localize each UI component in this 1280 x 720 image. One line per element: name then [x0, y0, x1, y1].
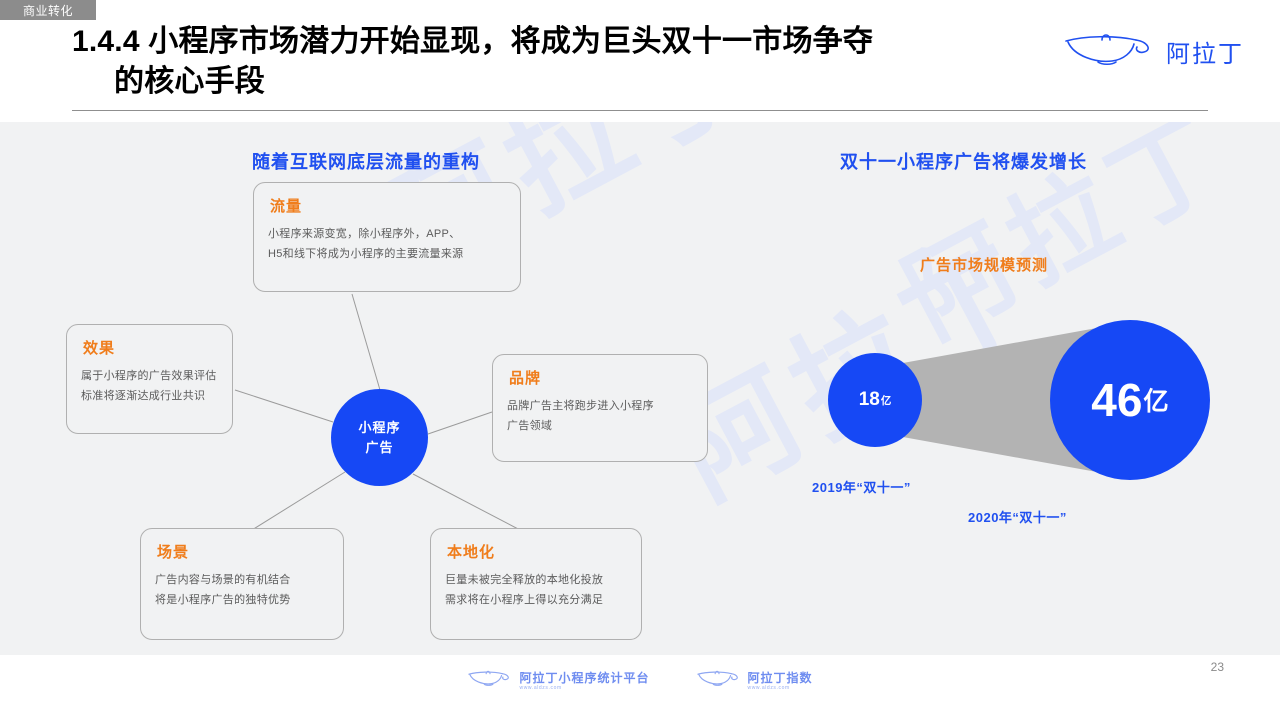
content-panel: 阿拉丁 阿拉丁 阿拉丁 随着互联网底层流量的重构 双十一小程序广告将爆发增长 流…: [0, 122, 1280, 655]
funnel-value-2019: 18: [859, 389, 880, 411]
slide-root: 商业转化 1.4.4 小程序市场潜力开始显现，将成为巨头双十一市场争夺 的核心手…: [0, 0, 1280, 720]
footer-logo-index: 阿拉丁指数 www.aldzs.com: [696, 669, 813, 692]
footer-logo-url: www.aldzs.com: [748, 685, 790, 692]
card-title: 流量: [270, 195, 506, 216]
card-title: 本地化: [447, 541, 627, 562]
footer-logo-url: www.aldzs.com: [519, 685, 561, 692]
hub-line-2: 广告: [365, 438, 393, 458]
card-title: 场景: [157, 541, 329, 562]
magic-lamp-icon: [1062, 32, 1158, 71]
magic-lamp-icon: [696, 669, 742, 692]
mindmap-card-bendihua: 本地化 巨量未被完全释放的本地化投放 需求将在小程序上得以充分满足: [430, 528, 642, 640]
page-title: 1.4.4 小程序市场潜力开始显现，将成为巨头双十一市场争夺 的核心手段: [72, 22, 1082, 102]
card-title: 品牌: [509, 367, 693, 388]
funnel-bubble-2020: 46亿: [1050, 320, 1210, 480]
card-title: 效果: [83, 337, 218, 358]
brand-logo: 阿拉丁: [1062, 32, 1244, 71]
mindmap-card-pinpai: 品牌 品牌广告主将跑步进入小程序 广告领域: [492, 354, 708, 462]
funnel-unit: 亿: [881, 393, 891, 408]
card-body-line: 广告领域: [507, 416, 693, 436]
hub-line-1: 小程序: [358, 418, 400, 438]
footer-logo-name: 阿拉丁指数: [748, 672, 813, 685]
card-body-line: 广告内容与场景的有机结合: [155, 570, 329, 590]
page-title-line-2: 的核心手段: [72, 62, 1082, 102]
funnel-value-2020: 46: [1091, 373, 1142, 427]
funnel-bubble-2019: 18亿: [828, 353, 922, 447]
card-body-line: 小程序来源变宽，除小程序外，APP、: [268, 224, 506, 244]
card-body-line: 属于小程序的广告效果评估: [81, 366, 218, 386]
page-number: 23: [1211, 660, 1224, 674]
footer-logo-name: 阿拉丁小程序统计平台: [519, 672, 649, 685]
card-body-line: 将是小程序广告的独特优势: [155, 590, 329, 610]
page-title-line-1: 1.4.4 小程序市场潜力开始显现，将成为巨头双十一市场争夺: [72, 25, 873, 58]
magic-lamp-icon: [467, 669, 513, 692]
section-tab: 商业转化: [0, 0, 96, 20]
mindmap-card-liuliang: 流量 小程序来源变宽，除小程序外，APP、 H5和线下将成为小程序的主要流量来源: [253, 182, 521, 292]
footer: 阿拉丁小程序统计平台 www.aldzs.com: [0, 655, 1280, 720]
funnel-chart: 广告市场规模预测 18亿 46亿 2019年“双十一” 2020年“双十一”: [790, 122, 1260, 655]
card-body-line: 巨量未被完全释放的本地化投放: [445, 570, 627, 590]
funnel-label-2020: 2020年“双十一”: [968, 507, 1067, 526]
funnel-unit: 亿: [1143, 382, 1168, 418]
footer-logo-statistics-platform: 阿拉丁小程序统计平台 www.aldzs.com: [467, 669, 649, 692]
card-body-line: H5和线下将成为小程序的主要流量来源: [268, 244, 506, 264]
card-body-line: 需求将在小程序上得以充分满足: [445, 590, 627, 610]
header-divider: [72, 110, 1208, 111]
card-body-line: 品牌广告主将跑步进入小程序: [507, 396, 693, 416]
mindmap-hub: 小程序 广告: [331, 389, 428, 486]
mindmap-card-xiaoguo: 效果 属于小程序的广告效果评估 标准将逐渐达成行业共识: [66, 324, 233, 434]
funnel-label-2019: 2019年“双十一”: [812, 477, 911, 496]
mind-map: 流量 小程序来源变宽，除小程序外，APP、 H5和线下将成为小程序的主要流量来源…: [0, 122, 760, 655]
card-body-line: 标准将逐渐达成行业共识: [81, 386, 218, 406]
mindmap-card-changjing: 场景 广告内容与场景的有机结合 将是小程序广告的独特优势: [140, 528, 344, 640]
brand-name: 阿拉丁: [1166, 34, 1244, 69]
